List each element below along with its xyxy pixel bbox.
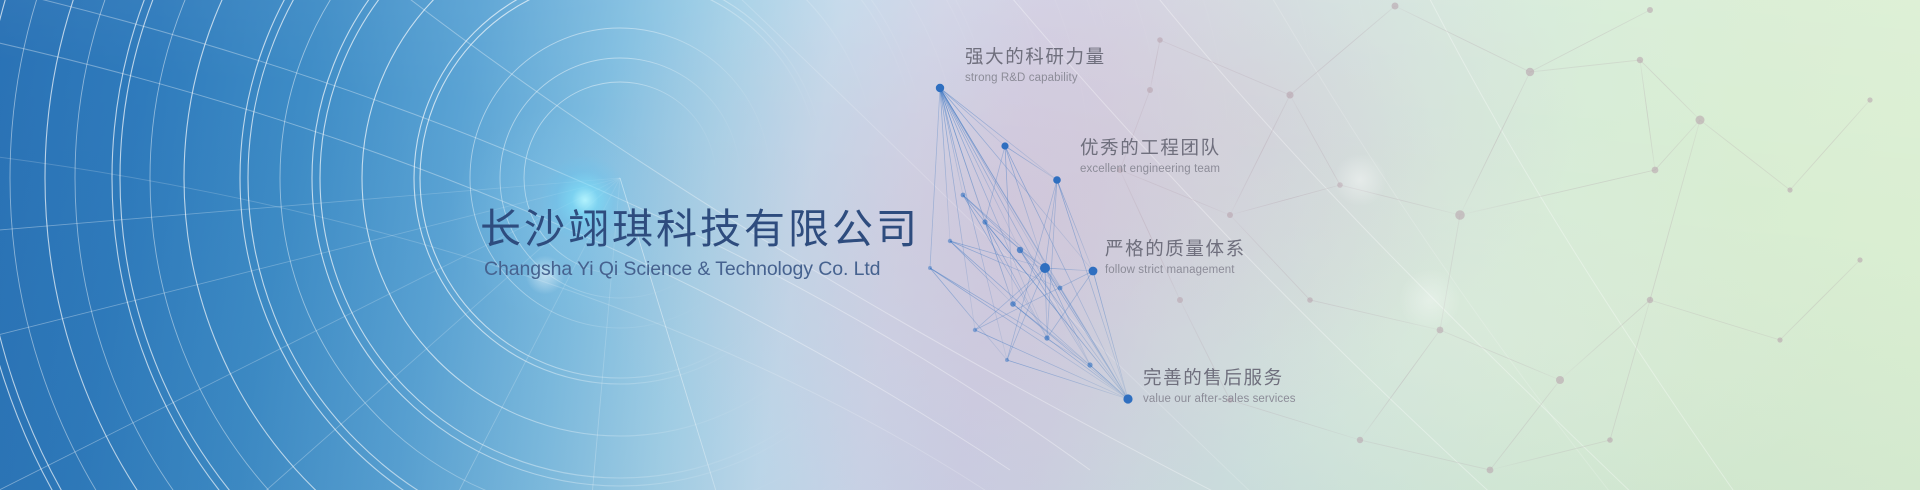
feature-item-quality: 严格的质量体系 follow strict management <box>1105 237 1246 278</box>
feature-title-cn: 完善的售后服务 <box>1143 366 1296 389</box>
company-name-cn: 长沙翊琪科技有限公司 <box>480 205 1020 253</box>
feature-title-cn: 强大的科研力量 <box>965 45 1106 68</box>
company-name-en: Changsha Yi Qi Science & Technology Co. … <box>484 258 1020 281</box>
feature-item-service: 完善的售后服务 value our after-sales services <box>1143 366 1296 407</box>
company-name-block: 长沙翊琪科技有限公司 Changsha Yi Qi Science & Tech… <box>480 205 1020 281</box>
feature-title-cn: 严格的质量体系 <box>1105 237 1246 260</box>
hero-banner: 长沙翊琪科技有限公司 Changsha Yi Qi Science & Tech… <box>0 0 1920 490</box>
feature-title-en: strong R&D capability <box>965 71 1106 85</box>
feature-item-rd: 强大的科研力量 strong R&D capability <box>965 45 1106 86</box>
feature-item-team: 优秀的工程团队 excellent engineering team <box>1080 136 1221 177</box>
feature-title-en: follow strict management <box>1105 263 1246 277</box>
feature-title-en: excellent engineering team <box>1080 162 1221 176</box>
feature-title-en: value our after-sales services <box>1143 392 1296 406</box>
feature-title-cn: 优秀的工程团队 <box>1080 136 1221 159</box>
